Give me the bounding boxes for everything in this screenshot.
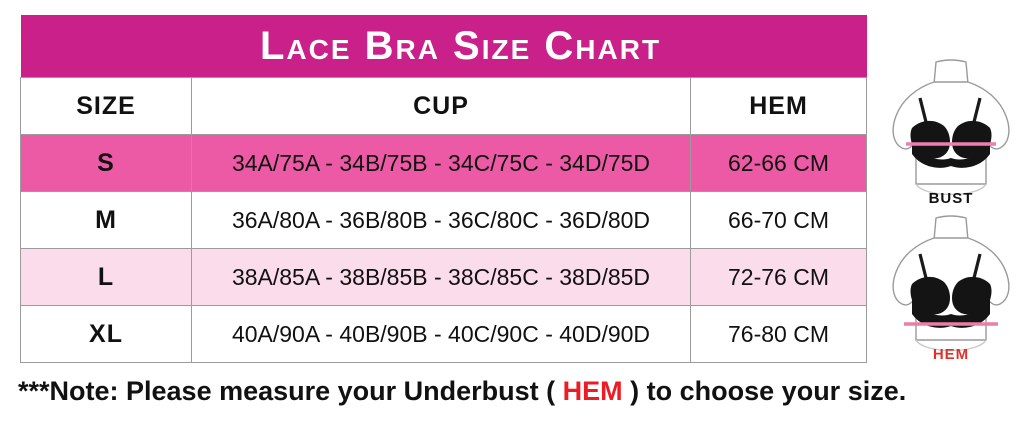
table-row: M 36A/80A - 36B/80B - 36C/80C - 36D/80D … [21, 192, 867, 249]
row-size-m: M [21, 192, 192, 249]
table-header-row: SIZE CUP HEM [21, 78, 867, 135]
row-size-xl: XL [21, 306, 192, 363]
column-header-size: SIZE [21, 78, 192, 135]
note-prefix: ***Note: Please measure your Underbust ( [18, 376, 563, 406]
row-hem-l: 72-76 CM [691, 249, 867, 306]
title-banner-row: Lace Bra Size Chart [21, 15, 867, 78]
row-size-l: L [21, 249, 192, 306]
row-size-s: S [21, 135, 192, 192]
row-hem-m: 66-70 CM [691, 192, 867, 249]
bust-caption: BUST [876, 190, 1024, 207]
column-header-hem: HEM [691, 78, 867, 135]
row-cup-m: 36A/80A - 36B/80B - 36C/80C - 36D/80D [192, 192, 691, 249]
note-highlight-hem: HEM [563, 376, 623, 406]
table-row: S 34A/75A - 34B/75B - 34C/75C - 34D/75D … [21, 135, 867, 192]
measurement-note: ***Note: Please measure your Underbust (… [18, 376, 906, 407]
row-hem-s: 62-66 CM [691, 135, 867, 192]
title-banner: Lace Bra Size Chart [21, 15, 867, 78]
row-cup-s: 34A/75A - 34B/75B - 34C/75C - 34D/75D [192, 135, 691, 192]
column-header-cup: CUP [192, 78, 691, 135]
hem-caption: HEM [876, 346, 1024, 363]
table-row: L 38A/85A - 38B/85B - 38C/85C - 38D/85D … [21, 249, 867, 306]
size-chart-table: Lace Bra Size Chart SIZE CUP HEM S 34A/7… [20, 15, 867, 363]
note-suffix: ) to choose your size. [623, 376, 907, 406]
table-row: XL 40A/90A - 40B/90B - 40C/90C - 40D/90D… [21, 306, 867, 363]
row-cup-l: 38A/85A - 38B/85B - 38C/85C - 38D/85D [192, 249, 691, 306]
page-title: Lace Bra Size Chart [21, 26, 867, 66]
row-cup-xl: 40A/90A - 40B/90B - 40C/90C - 40D/90D [192, 306, 691, 363]
row-hem-xl: 76-80 CM [691, 306, 867, 363]
